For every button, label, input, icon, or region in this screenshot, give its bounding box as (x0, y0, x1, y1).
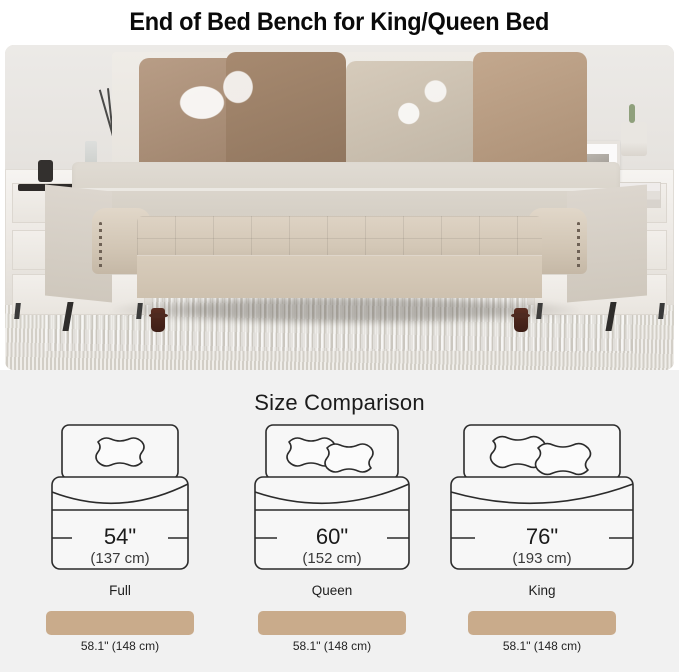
size-comparison-heading: Size Comparison (0, 370, 679, 416)
bench-bar-group-king: 58.1" (148 cm) (468, 611, 616, 653)
bedroom-scene (5, 45, 674, 370)
bench-size-bar (46, 611, 194, 635)
duvet-fold (72, 188, 621, 191)
pillow-pattern (366, 58, 473, 169)
bench-bar-group-full: 58.1" (148 cm) (46, 611, 194, 653)
bed-diagram-king: 76" (193 cm) King 58.1" (148 cm) (442, 422, 642, 653)
page-title: End of Bed Bench for King/Queen Bed (130, 8, 550, 37)
bed-size-label-queen: Queen (312, 583, 353, 598)
bed-width-inches: 54" (104, 524, 136, 549)
bed-width-cm: (152 cm) (302, 550, 361, 567)
product-photo (5, 45, 674, 370)
bed-outline-svg: 54" (137 cm) (50, 422, 190, 577)
size-comparison-section: Size Comparison 54" (137 cm) Ful (0, 370, 679, 672)
nailhead-trim (577, 222, 580, 269)
bed-size-label-full: Full (109, 583, 131, 598)
bench-base (137, 255, 543, 298)
bench-size-label: 58.1" (148 cm) (503, 639, 581, 653)
bench-turned-leg (514, 308, 528, 332)
nailhead-trim (99, 222, 102, 269)
bed-diagram-row: 54" (137 cm) Full 58.1" (148 cm) (0, 422, 679, 672)
bed-outline-svg: 60" (152 cm) (253, 422, 411, 577)
bed-size-label-king: King (528, 583, 555, 598)
bed-width-cm: (137 cm) (90, 550, 149, 567)
bed-outline-svg: 76" (193 cm) (449, 422, 635, 577)
bed-diagram-queen: 60" (152 cm) Queen 58.1" (148 cm) (242, 422, 422, 653)
storage-bench (92, 208, 587, 315)
bed-width-inches: 60" (316, 524, 348, 549)
decor-plant (621, 122, 647, 156)
bed-diagram-full: 54" (137 cm) Full 58.1" (148 cm) (40, 422, 200, 653)
bed-width-inches: 76" (526, 524, 558, 549)
bed-width-cm: (193 cm) (512, 550, 571, 567)
page-header: End of Bed Bench for King/Queen Bed (0, 0, 679, 45)
bench-turned-leg (151, 308, 165, 332)
bench-size-bar (258, 611, 406, 635)
bench-bar-group-queen: 58.1" (148 cm) (258, 611, 406, 653)
bench-size-label: 58.1" (148 cm) (293, 639, 371, 653)
bench-size-label: 58.1" (148 cm) (81, 639, 159, 653)
decor-diffuser (38, 160, 53, 182)
bench-size-bar (468, 611, 616, 635)
